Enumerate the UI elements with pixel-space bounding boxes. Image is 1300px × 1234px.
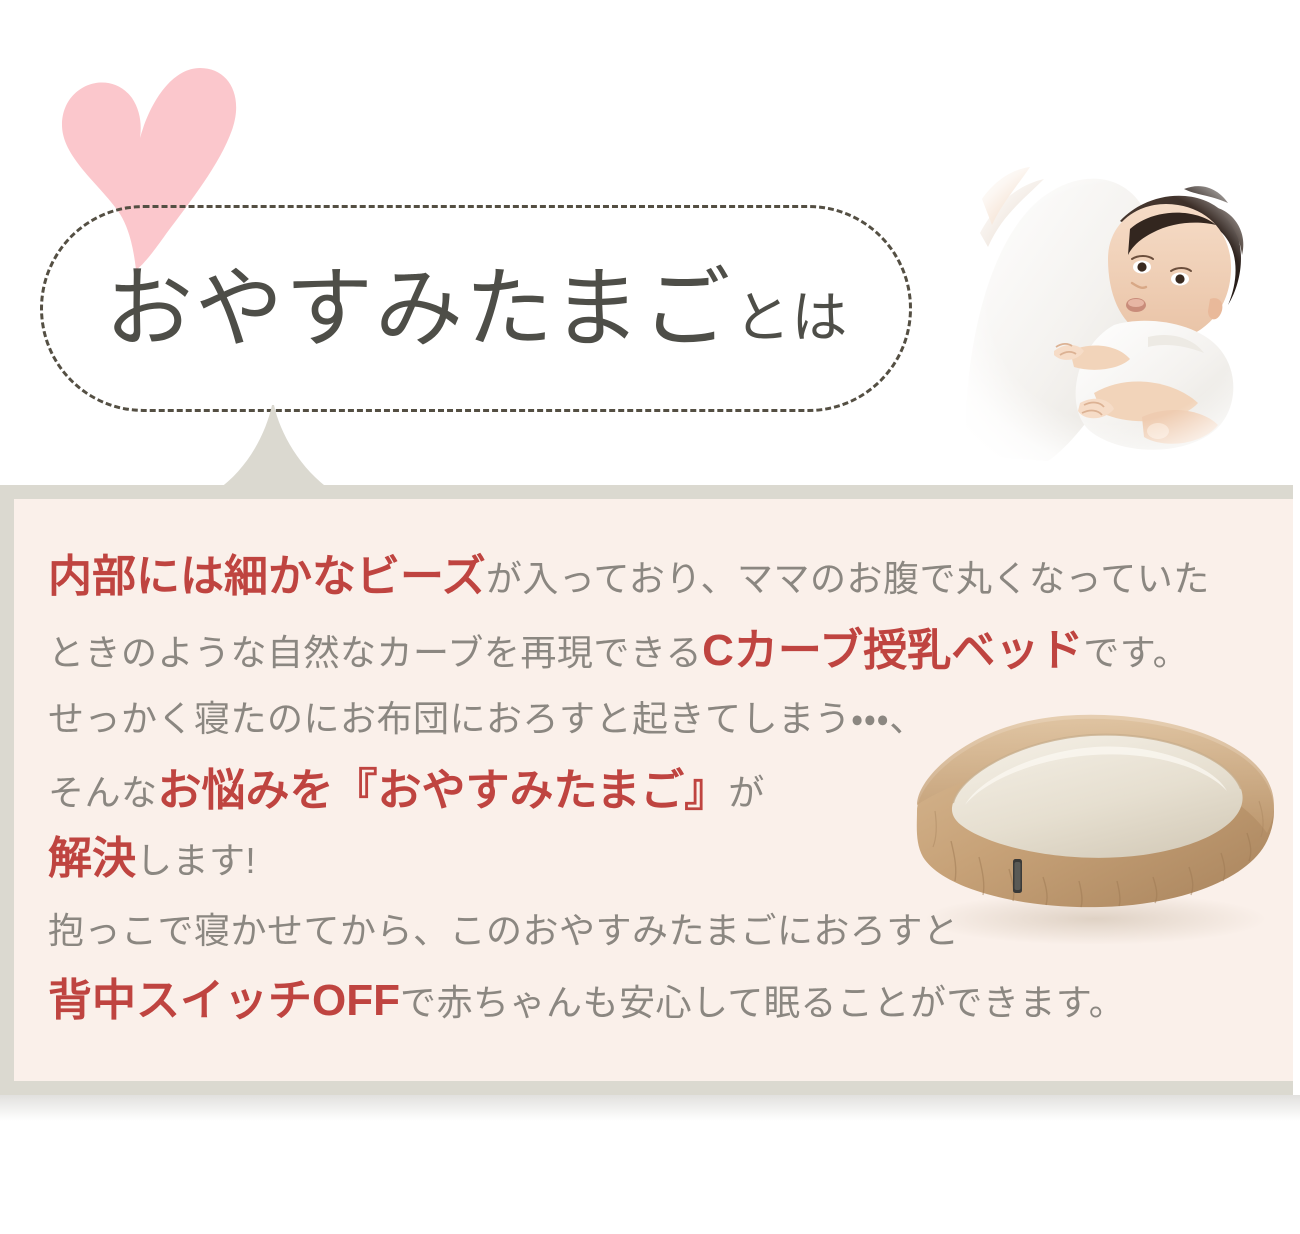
copy-highlight: お悩みを『おやすみたまご』 bbox=[158, 766, 729, 815]
copy-line-3: せっかく寝たのにお布団におろすと起きてしまう・・・、 bbox=[48, 701, 1278, 737]
section-title-main: おやすみたまご bbox=[105, 265, 732, 353]
copy-line-2: ときのような自然なカーブを再現できるCカーブ授乳ベッドです。 bbox=[48, 629, 1278, 673]
description-panel: 内部には細かなビーズが入っており、ママのお腹で丸くなっていた ときのような自然な… bbox=[0, 485, 1293, 1095]
copy-highlight: 解決 bbox=[48, 834, 136, 883]
copy-text: です。 bbox=[1083, 632, 1189, 673]
copy-line-4: そんなお悩みを『おやすみたまご』が bbox=[48, 769, 1278, 813]
hero-section: おやすみたまごとは bbox=[0, 0, 1300, 490]
copy-line-7: 背中スイッチOFFで赤ちゃんも安心して眠ることができます。 bbox=[48, 979, 1278, 1023]
copy-highlight: Cカーブ授乳ベッド bbox=[702, 626, 1083, 675]
copy-text: が入っており、ママのお腹で丸くなっていた bbox=[486, 558, 1210, 599]
copy-line-6: 抱っこで寝かせてから、このおやすみたまごにおろすと bbox=[48, 913, 1278, 949]
copy-text: します! bbox=[136, 840, 256, 881]
copy-line-5: 解決します! bbox=[48, 837, 1278, 881]
copy-text: そんな bbox=[48, 772, 158, 813]
copy-text: せっかく寝たのにお布団におろすと起きてしまう・・・、 bbox=[48, 698, 926, 739]
speech-bubble-tail bbox=[214, 403, 334, 493]
description-copy: 内部には細かなビーズが入っており、ママのお腹で丸くなっていた ときのような自然な… bbox=[48, 555, 1278, 1023]
section-title: おやすみたまごとは bbox=[43, 208, 909, 409]
baby-photo bbox=[952, 155, 1284, 465]
description-panel-inner: 内部には細かなビーズが入っており、ママのお腹で丸くなっていた ときのような自然な… bbox=[14, 499, 1293, 1081]
copy-text: ときのような自然なカーブを再現できる bbox=[48, 632, 702, 673]
copy-highlight: 背中スイッチOFF bbox=[48, 976, 400, 1025]
copy-text: が bbox=[728, 772, 765, 813]
copy-highlight: 内部には細かなビーズ bbox=[48, 552, 486, 601]
product-description-page: おやすみたまごとは bbox=[0, 0, 1300, 1234]
copy-line-1: 内部には細かなビーズが入っており、ママのお腹で丸くなっていた bbox=[48, 555, 1278, 599]
copy-text: で赤ちゃんも安心して眠ることができます。 bbox=[400, 982, 1125, 1023]
section-title-bubble: おやすみたまごとは bbox=[40, 205, 912, 412]
panel-drop-shadow bbox=[0, 1095, 1300, 1121]
copy-text: 抱っこで寝かせてから、このおやすみたまごにおろすと bbox=[48, 910, 959, 951]
section-title-suffix: とは bbox=[734, 290, 848, 346]
